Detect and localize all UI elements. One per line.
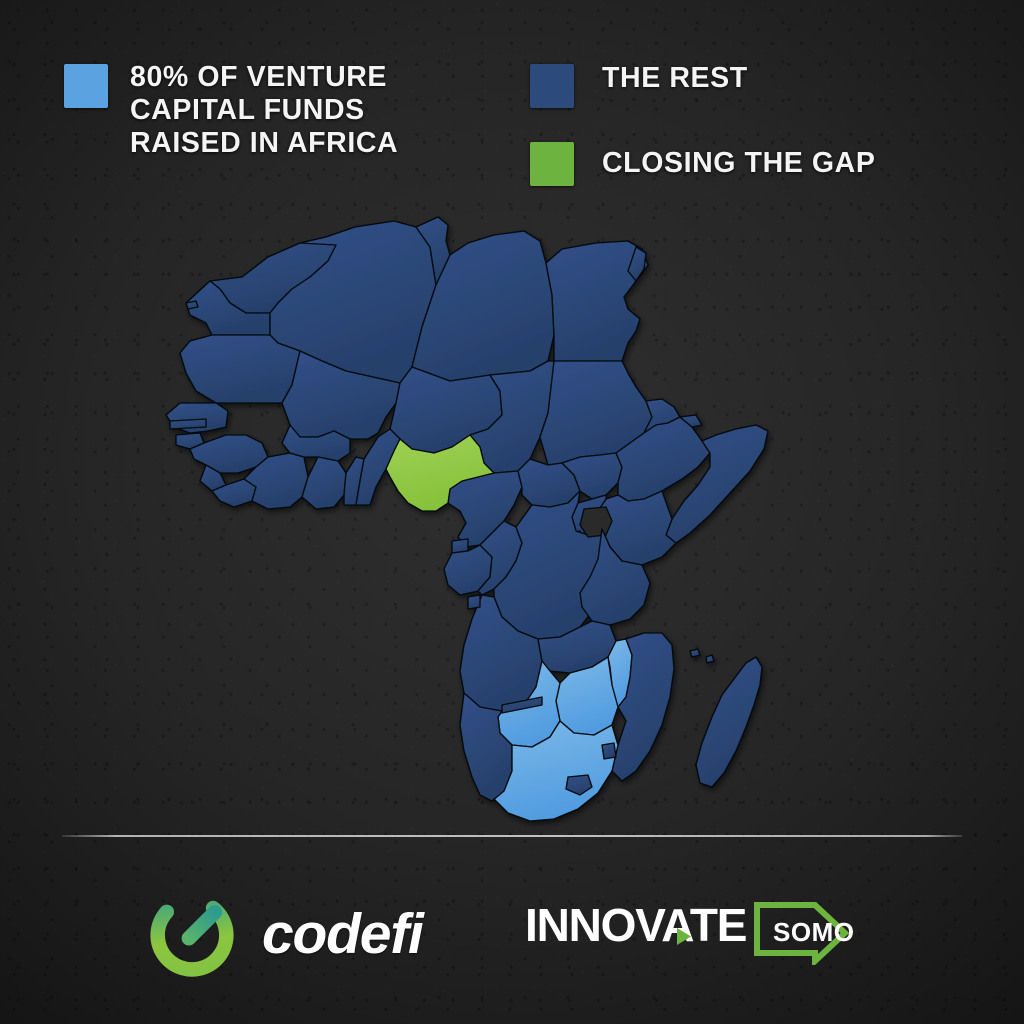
codefi-logo[interactable]: codefi bbox=[140, 880, 423, 984]
legend-item-primary: 80% OF VENTURE CAPITAL FUNDS RAISED IN A… bbox=[64, 64, 398, 160]
country-eswatini bbox=[602, 743, 616, 759]
lake-victoria-cutout bbox=[580, 507, 612, 537]
legend-item-rest: THE REST bbox=[530, 64, 748, 108]
innovate-somo-logo[interactable]: INNOVATE SOMO bbox=[525, 895, 875, 965]
island-canary bbox=[186, 301, 198, 309]
island-comoros-2 bbox=[706, 655, 714, 663]
legend-swatch-rest bbox=[530, 64, 574, 108]
innovate-wordmark-text: INNOVATE bbox=[525, 899, 746, 951]
country-ghana bbox=[302, 457, 346, 509]
innovate-somo-mark: INNOVATE SOMO bbox=[525, 895, 875, 965]
map-countries-group bbox=[166, 217, 768, 821]
africa-map bbox=[150, 185, 850, 845]
footer-divider bbox=[62, 835, 962, 837]
country-mauritania bbox=[180, 335, 300, 403]
somo-badge-text: SOMO bbox=[773, 917, 854, 947]
country-cabinda bbox=[468, 595, 480, 609]
island-comoros bbox=[690, 649, 700, 657]
infographic-canvas: 80% OF VENTURE CAPITAL FUNDS RAISED IN A… bbox=[0, 0, 1024, 1024]
country-gambia bbox=[170, 419, 206, 429]
legend-label-rest: THE REST bbox=[602, 62, 748, 95]
codefi-mark-icon bbox=[140, 880, 244, 984]
codefi-wordmark: codefi bbox=[262, 906, 423, 963]
legend-item-gap: CLOSING THE GAP bbox=[530, 142, 875, 186]
africa-map-container bbox=[150, 185, 850, 845]
legend-swatch-primary bbox=[64, 64, 108, 108]
legend-label-gap: CLOSING THE GAP bbox=[602, 147, 875, 180]
country-madagascar bbox=[696, 657, 762, 787]
legend-label-primary: 80% OF VENTURE CAPITAL FUNDS RAISED IN A… bbox=[130, 61, 398, 160]
legend-swatch-gap bbox=[530, 142, 574, 186]
